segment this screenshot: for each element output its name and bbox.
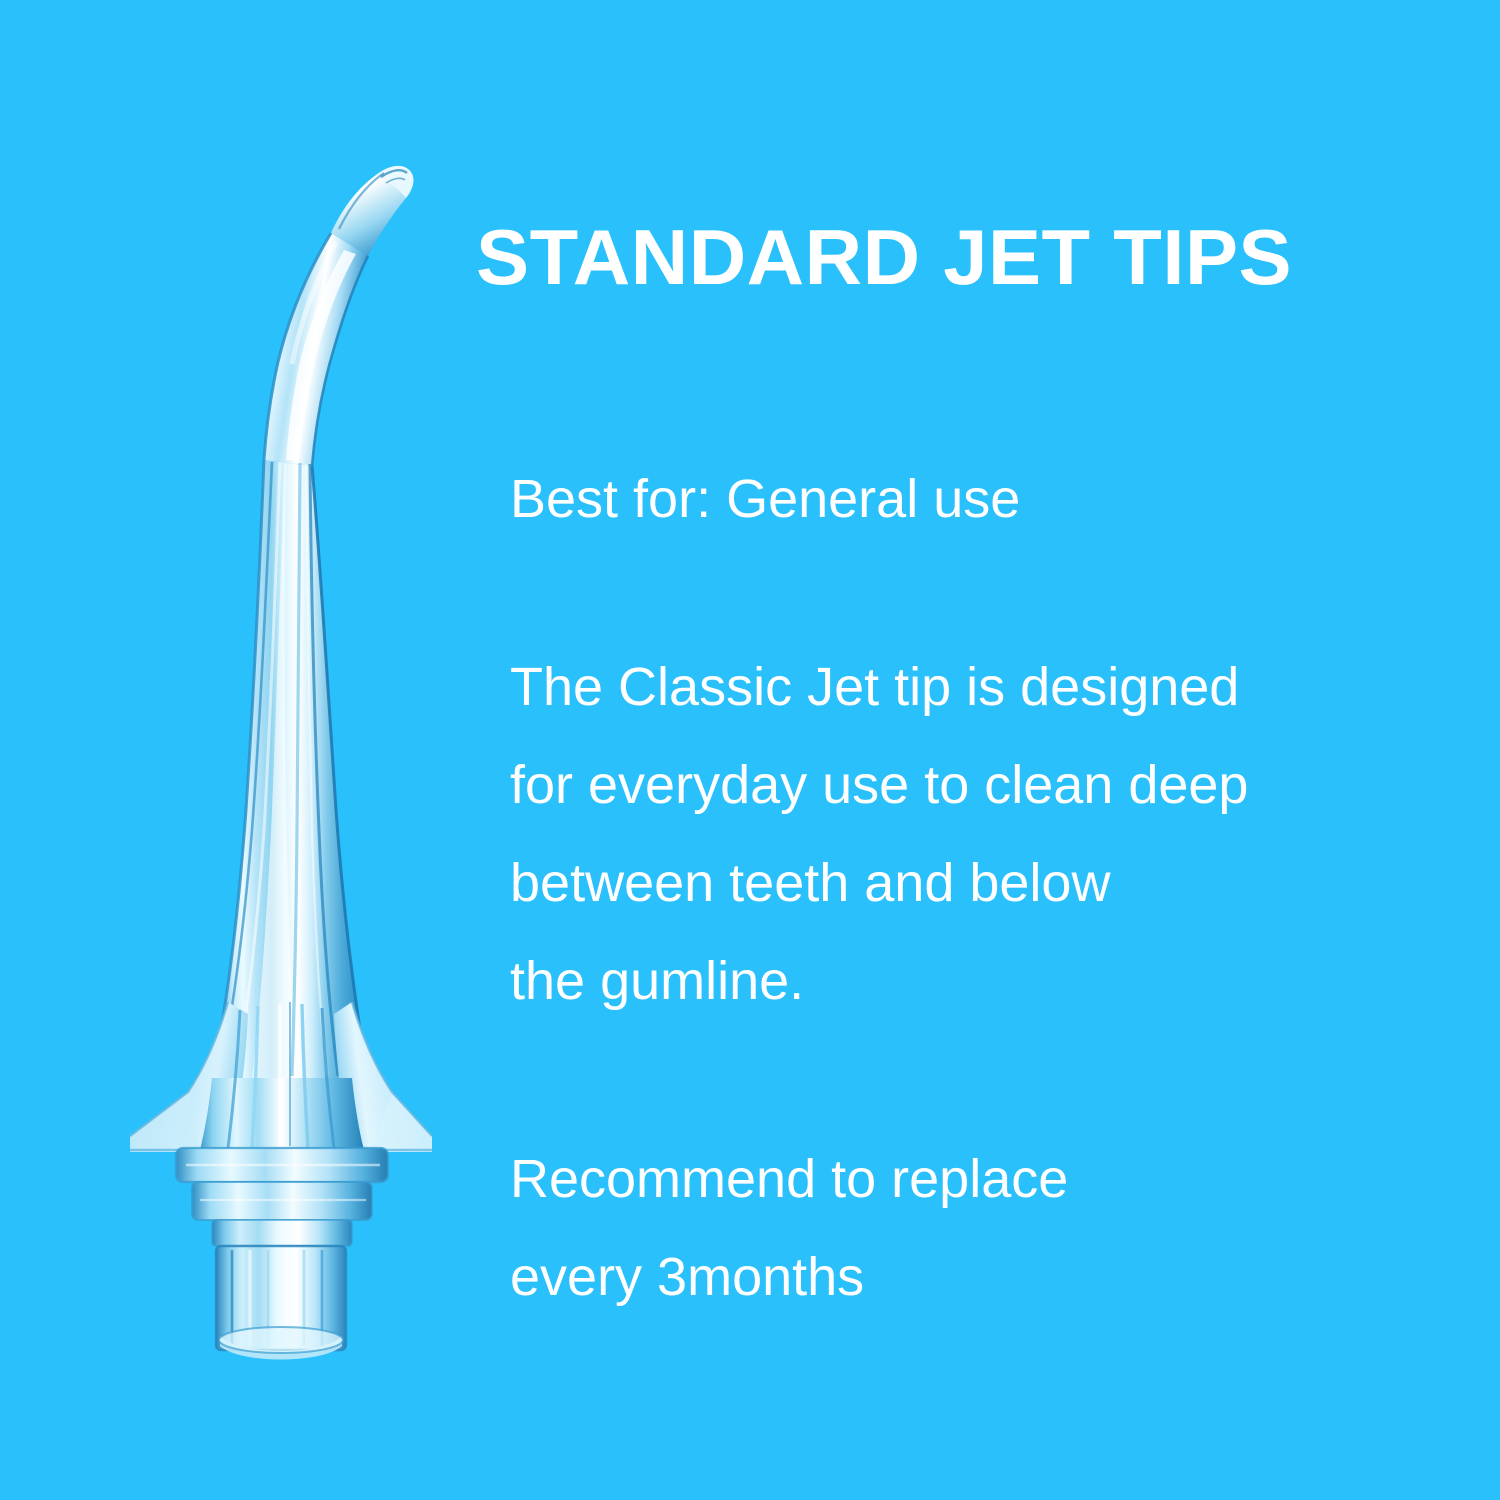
description-block: The Classic Jet tip is designed for ever… bbox=[510, 638, 1390, 1030]
replacement-advice-line: Recommend to replace bbox=[510, 1130, 1390, 1228]
page-title: STANDARD JET TIPS bbox=[476, 218, 1455, 296]
best-for-label: Best for: General use bbox=[510, 468, 1020, 530]
description-line: for everyday use to clean deep bbox=[510, 736, 1390, 834]
description-line: the gumline. bbox=[510, 932, 1390, 1030]
ribbed-connector-stem bbox=[216, 1246, 346, 1360]
curved-neck bbox=[264, 233, 368, 466]
replacement-advice-block: Recommend to replace every 3months bbox=[510, 1130, 1390, 1326]
product-image-jet-tip bbox=[100, 130, 460, 1370]
description-line: between teeth and below bbox=[510, 834, 1390, 932]
description-line: The Classic Jet tip is designed bbox=[510, 638, 1390, 736]
tapered-shaft bbox=[212, 460, 368, 1078]
replacement-advice-line: every 3months bbox=[510, 1228, 1390, 1326]
collar-ring bbox=[176, 1148, 388, 1246]
product-infographic: STANDARD JET TIPS Best for: General use … bbox=[0, 0, 1500, 1500]
text-column: STANDARD JET TIPS Best for: General use … bbox=[476, 218, 1436, 296]
